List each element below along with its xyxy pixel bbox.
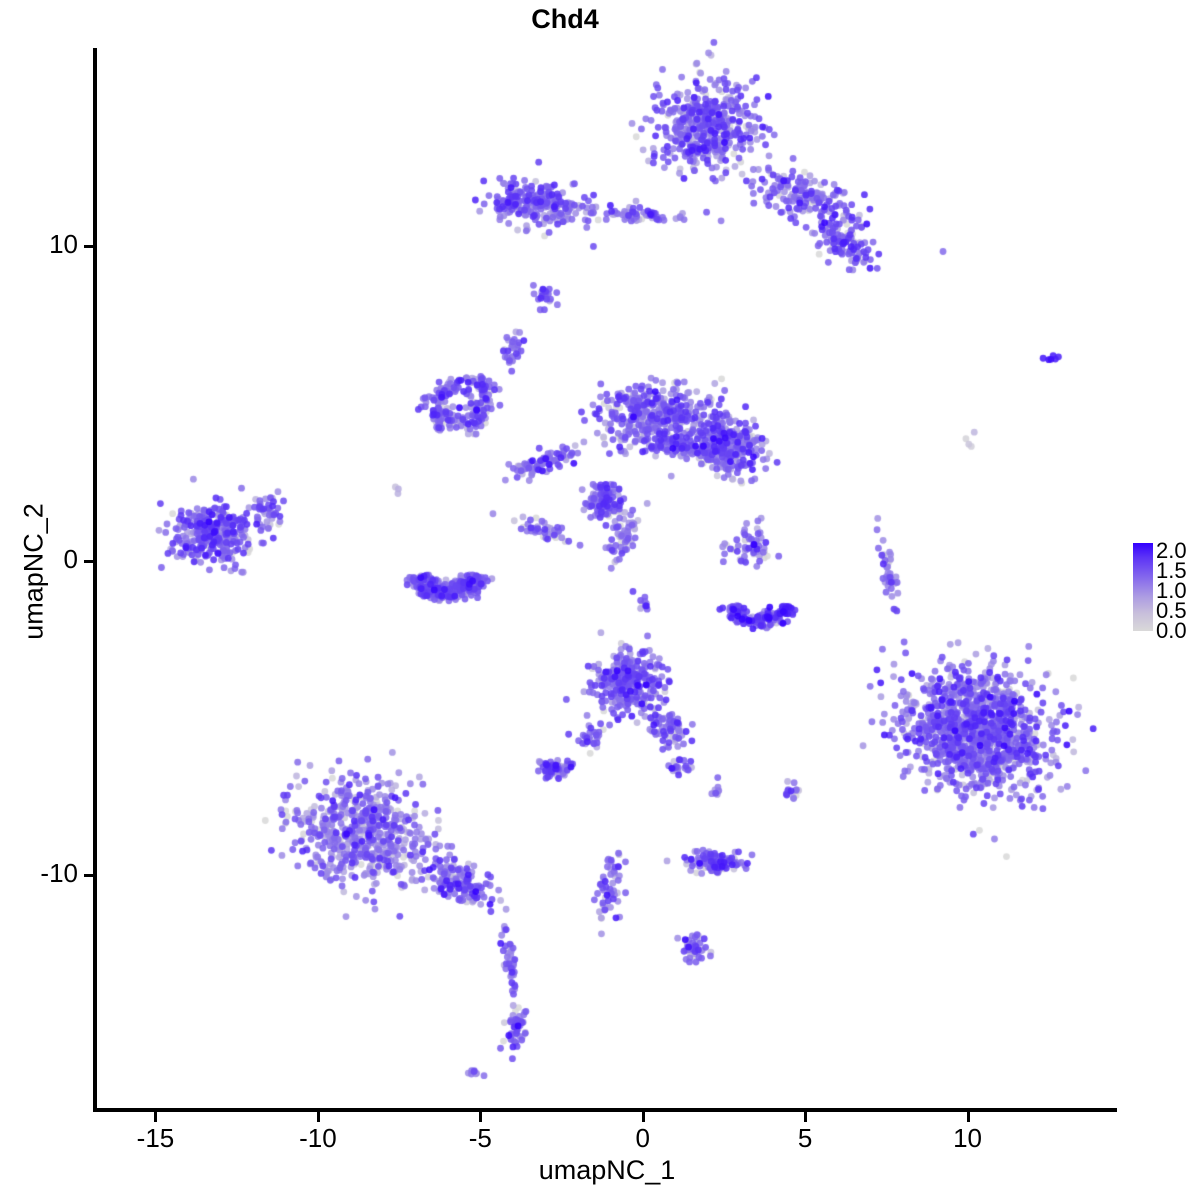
x-tick-label: 5 <box>765 1123 845 1154</box>
x-axis-line <box>93 1108 1117 1112</box>
y-tick-label: 10 <box>0 229 78 260</box>
x-tick-mark <box>479 1112 482 1122</box>
y-tick-mark <box>84 245 94 248</box>
y-tick-mark <box>84 874 94 877</box>
x-tick-mark <box>804 1112 807 1122</box>
y-axis-label: umapNC_2 <box>19 262 50 882</box>
x-tick-label: -10 <box>278 1123 358 1154</box>
x-tick-mark <box>967 1112 970 1122</box>
x-tick-mark <box>154 1112 157 1122</box>
x-tick-label: -15 <box>115 1123 195 1154</box>
page-title: Chd4 <box>0 4 1130 35</box>
x-axis-label: umapNC_1 <box>97 1155 1117 1186</box>
colorbar-legend: 2.01.51.00.50.0 <box>1128 536 1200 640</box>
x-tick-label: 10 <box>928 1123 1008 1154</box>
x-tick-mark <box>317 1112 320 1122</box>
umap-feature-plot: Chd4 -15-10-50510 100-10 umapNC_1 umapNC… <box>0 0 1200 1200</box>
x-tick-label: 0 <box>603 1123 683 1154</box>
colorbar-tick-label: 0.0 <box>1156 620 1187 642</box>
y-axis-line <box>93 48 97 1112</box>
y-tick-mark <box>84 560 94 563</box>
colorbar-gradient <box>1133 543 1153 631</box>
x-tick-mark <box>642 1112 645 1122</box>
plot-panel <box>97 48 1117 1110</box>
x-tick-label: -5 <box>440 1123 520 1154</box>
